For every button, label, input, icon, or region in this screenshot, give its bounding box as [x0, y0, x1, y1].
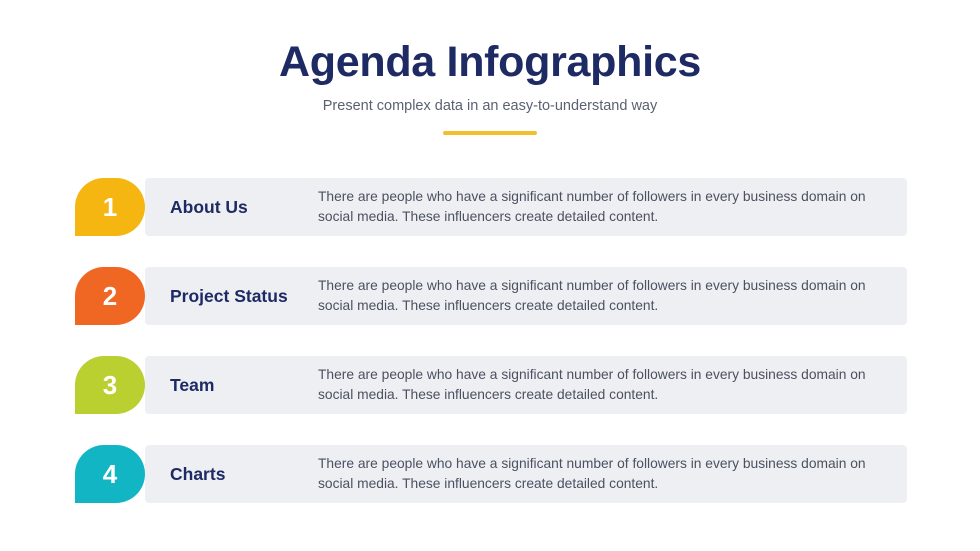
row-description: There are people who have a significant …	[318, 178, 893, 236]
step-number: 2	[103, 281, 117, 312]
step-number: 1	[103, 192, 117, 223]
agenda-list: 1 About Us There are people who have a s…	[75, 178, 907, 534]
row-description-text: There are people who have a significant …	[318, 276, 893, 315]
list-item[interactable]: 4 Charts There are people who have a sig…	[75, 445, 907, 503]
row-title: Team	[170, 356, 330, 414]
row-title: About Us	[170, 178, 330, 236]
step-number-badge: 2	[75, 267, 145, 325]
row-description: There are people who have a significant …	[318, 267, 893, 325]
list-item[interactable]: 1 About Us There are people who have a s…	[75, 178, 907, 236]
accent-divider	[443, 131, 537, 135]
row-description-text: There are people who have a significant …	[318, 187, 893, 226]
row-description-text: There are people who have a significant …	[318, 365, 893, 404]
page-title: Agenda Infographics	[0, 38, 980, 87]
row-title: Project Status	[170, 267, 330, 325]
agenda-slide: Agenda Infographics Present complex data…	[0, 0, 980, 551]
row-description: There are people who have a significant …	[318, 445, 893, 503]
step-number: 3	[103, 370, 117, 401]
list-item[interactable]: 2 Project Status There are people who ha…	[75, 267, 907, 325]
page-subtitle: Present complex data in an easy-to-under…	[0, 98, 980, 114]
row-description: There are people who have a significant …	[318, 356, 893, 414]
list-item[interactable]: 3 Team There are people who have a signi…	[75, 356, 907, 414]
step-number: 4	[103, 459, 117, 490]
step-number-badge: 4	[75, 445, 145, 503]
step-number-badge: 3	[75, 356, 145, 414]
row-title: Charts	[170, 445, 330, 503]
row-description-text: There are people who have a significant …	[318, 454, 893, 493]
step-number-badge: 1	[75, 178, 145, 236]
